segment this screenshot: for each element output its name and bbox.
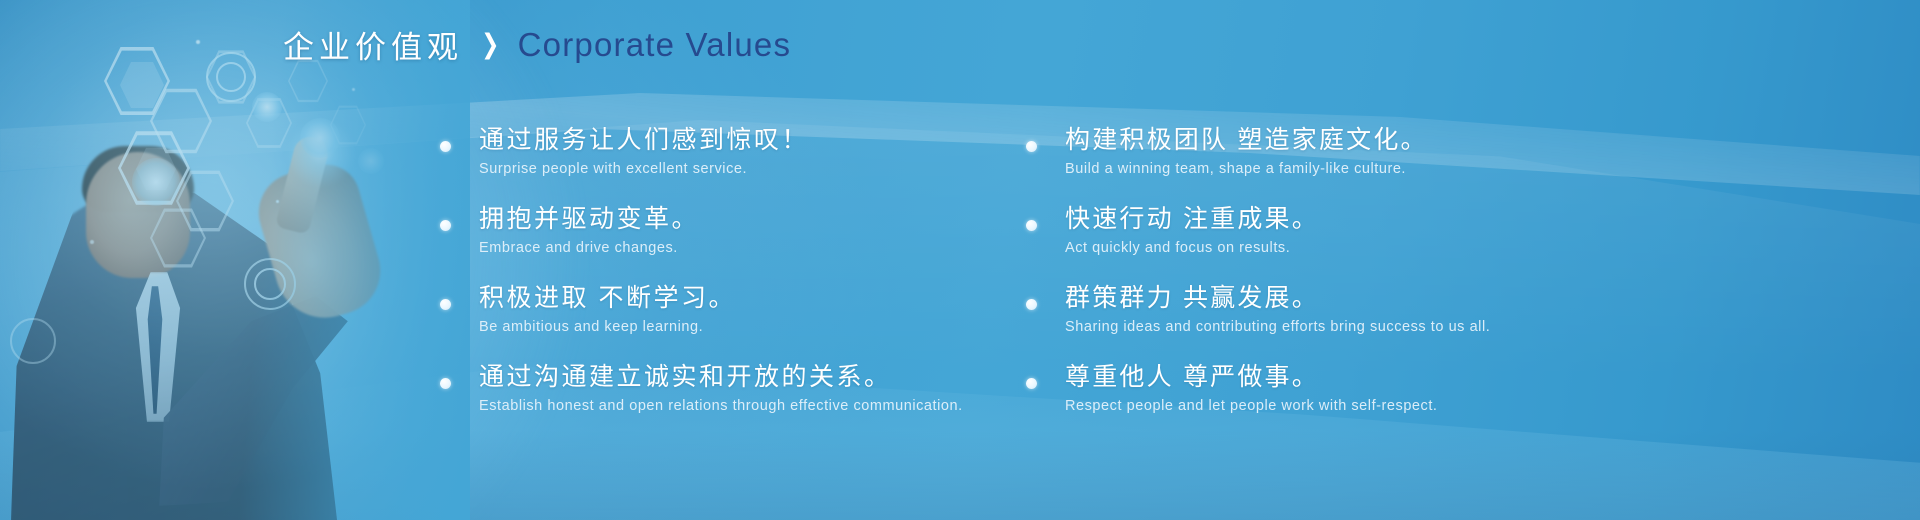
value-text-cn: 通过服务让人们感到惊叹！ <box>479 125 809 157</box>
page-title-en: Corporate Values <box>518 26 792 64</box>
value-text-en: Respect people and let people work with … <box>1065 397 1438 417</box>
list-item: 构建积极团队 塑造家庭文化。 Build a winning team, sha… <box>1026 125 1906 179</box>
value-text-cn: 尊重他人 尊严做事。 <box>1065 362 1438 394</box>
value-text-cn: 群策群力 共赢发展。 <box>1065 283 1490 315</box>
page-title-cn: 企业价值观 <box>283 22 463 67</box>
value-text-en: Sharing ideas and contributing efforts b… <box>1065 318 1490 338</box>
value-text-en: Be ambitious and keep learning. <box>479 318 736 338</box>
bullet-dot-icon <box>1026 378 1037 389</box>
values-column-left: 通过服务让人们感到惊叹！ Surprise people with excell… <box>440 125 1040 441</box>
list-item: 拥抱并驱动变革。 Embrace and drive changes. <box>440 204 1040 258</box>
value-text-cn: 快速行动 注重成果。 <box>1065 204 1319 236</box>
value-text-en: Build a winning team, shape a family-lik… <box>1065 160 1428 180</box>
bullet-dot-icon <box>440 141 451 152</box>
value-text-en: Act quickly and focus on results. <box>1065 239 1319 259</box>
bullet-dot-icon <box>1026 220 1037 231</box>
photo-blend-overlay <box>0 0 470 520</box>
values-column-right: 构建积极团队 塑造家庭文化。 Build a winning team, sha… <box>1026 125 1906 441</box>
corporate-values-banner: 企业价值观 ❯ Corporate Values 通过服务让人们感到惊叹！ Su… <box>0 0 1920 520</box>
value-text-en: Embrace and drive changes. <box>479 239 699 259</box>
value-text-cn: 积极进取 不断学习。 <box>479 283 736 315</box>
value-text-en: Surprise people with excellent service. <box>479 160 809 180</box>
chevron-right-icon: ❯ <box>481 31 499 58</box>
bullet-dot-icon <box>1026 299 1037 310</box>
list-item: 群策群力 共赢发展。 Sharing ideas and contributin… <box>1026 283 1906 337</box>
list-item: 尊重他人 尊严做事。 Respect people and let people… <box>1026 362 1906 416</box>
list-item: 通过沟通建立诚实和开放的关系。 Establish honest and ope… <box>440 362 1040 416</box>
businessman-hologram-photo <box>0 0 470 520</box>
list-item: 快速行动 注重成果。 Act quickly and focus on resu… <box>1026 204 1906 258</box>
value-text-cn: 拥抱并驱动变革。 <box>479 204 699 236</box>
value-text-cn: 通过沟通建立诚实和开放的关系。 <box>479 362 963 394</box>
value-text-en: Establish honest and open relations thro… <box>479 397 963 417</box>
list-item: 积极进取 不断学习。 Be ambitious and keep learnin… <box>440 283 1040 337</box>
value-text-cn: 构建积极团队 塑造家庭文化。 <box>1065 125 1428 157</box>
list-item: 通过服务让人们感到惊叹！ Surprise people with excell… <box>440 125 1040 179</box>
bullet-dot-icon <box>440 299 451 310</box>
bullet-dot-icon <box>1026 141 1037 152</box>
bullet-dot-icon <box>440 378 451 389</box>
bullet-dot-icon <box>440 220 451 231</box>
banner-title: 企业价值观 ❯ Corporate Values <box>283 22 791 67</box>
